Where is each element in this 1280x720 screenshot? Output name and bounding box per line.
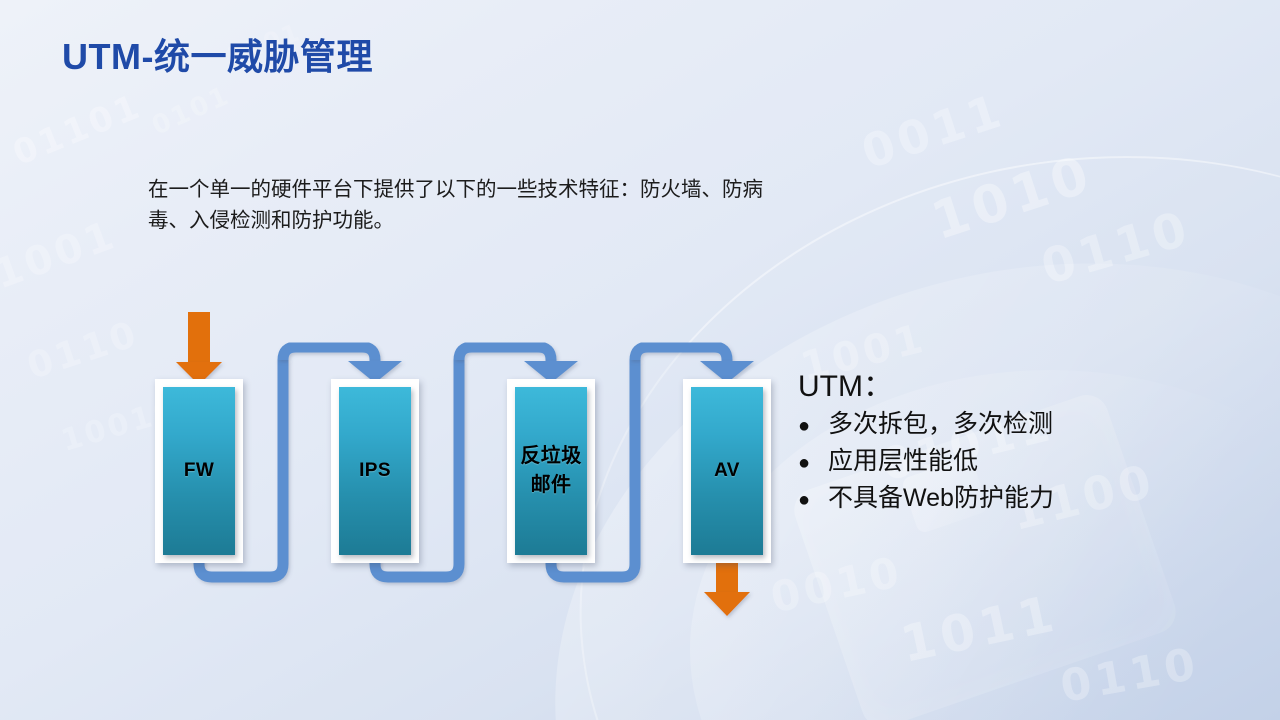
connector-upper-2 [635,347,727,361]
output-arrow-head [704,592,750,616]
process-node-label: IPS [357,458,393,484]
utm-summary-title: UTM： [798,368,1198,406]
process-node-fill: AV [691,387,763,555]
connector-layer [199,347,754,577]
connector-upper-1 [459,347,551,361]
utm-summary-item: ●应用层性能低 [798,445,1198,479]
process-node-label: 反垃圾邮件 [515,442,587,500]
process-node-fw[interactable]: FW [155,379,243,563]
utm-summary-item-label: 应用层性能低 [828,445,978,477]
process-node-av[interactable]: AV [683,379,771,563]
utm-summary-list: ●多次拆包，多次检测●应用层性能低●不具备Web防护能力 [798,408,1198,516]
bullet-icon: ● [798,484,828,516]
utm-summary-item-label: 不具备Web防护能力 [828,482,1054,514]
process-node-ips[interactable]: IPS [331,379,419,563]
utm-summary-item: ●多次拆包，多次检测 [798,408,1198,442]
slide-canvas: 0110110010110100100101110100111010011010… [0,0,1280,720]
utm-summary-panel: UTM： ●多次拆包，多次检测●应用层性能低●不具备Web防护能力 [798,368,1198,519]
process-node-label: AV [712,458,742,484]
connector-upper-0 [283,347,375,361]
flow-diagram [0,0,1280,720]
process-node-fill: FW [163,387,235,555]
utm-summary-item-label: 多次拆包，多次检测 [828,408,1053,440]
bullet-icon: ● [798,447,828,479]
utm-summary-item: ●不具备Web防护能力 [798,482,1198,516]
input-arrow-shaft [188,312,210,362]
bullet-icon: ● [798,410,828,442]
process-node-fill: 反垃圾邮件 [515,387,587,555]
process-node-label: FW [182,458,216,484]
process-node-fill: IPS [339,387,411,555]
process-node-spam[interactable]: 反垃圾邮件 [507,379,595,563]
